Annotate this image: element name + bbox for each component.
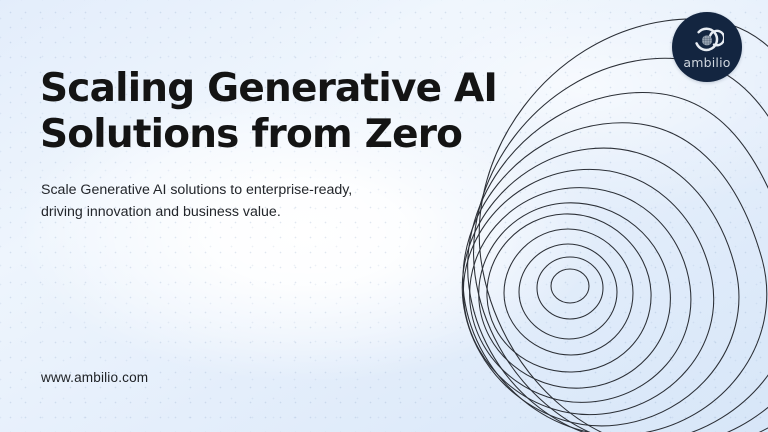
spiral-globe-icon (690, 26, 724, 56)
page-title: Scaling Generative AI Solutions from Zer… (40, 66, 510, 157)
slide-canvas: Scaling Generative AI Solutions from Zer… (0, 0, 768, 432)
website-url[interactable]: www.ambilio.com (41, 370, 148, 385)
subtitle-text: Scale Generative AI solutions to enterpr… (41, 180, 471, 223)
brand-logo[interactable]: ambilio (672, 12, 742, 82)
brand-logo-text: ambilio (683, 57, 730, 70)
